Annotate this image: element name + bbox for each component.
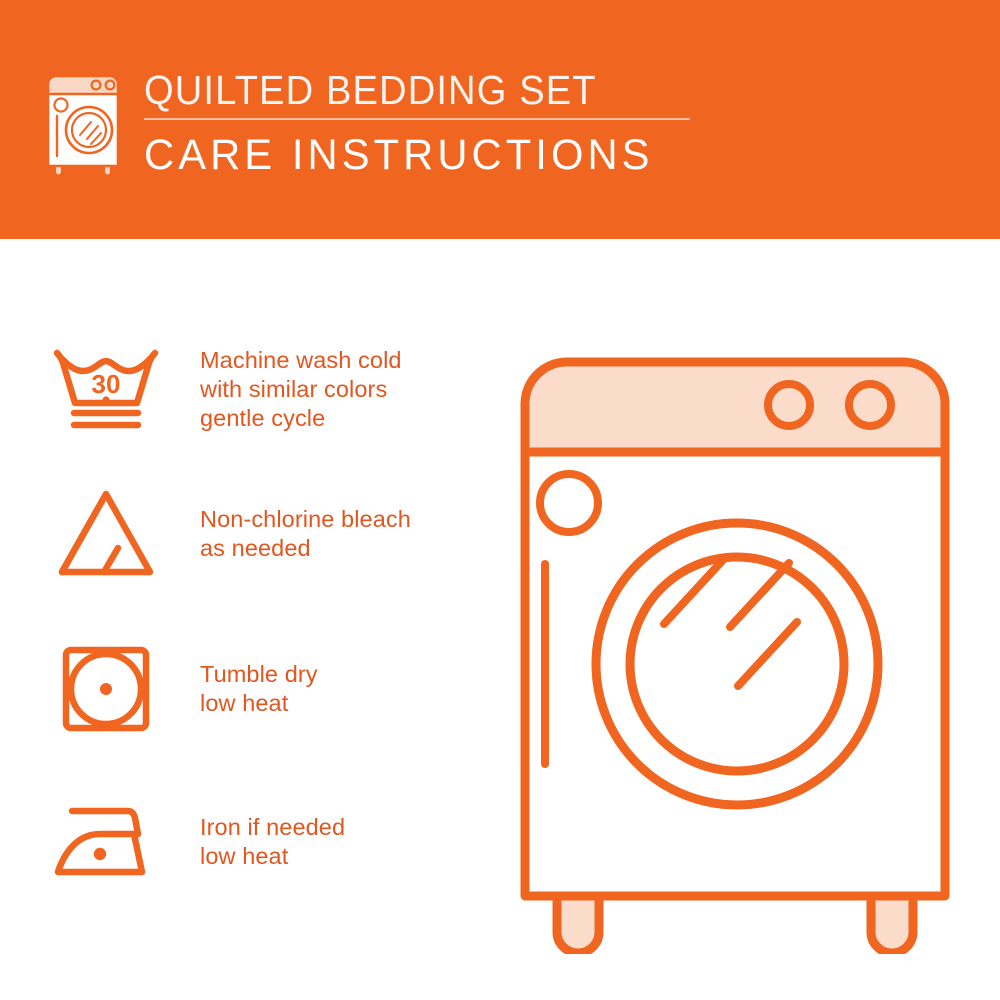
- care-item-bleach: Non-chlorine bleach as needed: [44, 484, 474, 584]
- leg-left: [557, 896, 599, 953]
- wash-temperature-label: 30: [92, 369, 121, 399]
- page-title: QUILTED BEDDING SET: [144, 66, 665, 114]
- washing-machine-icon: [44, 72, 130, 176]
- tumble-dry-low-heat-icon: [44, 641, 168, 737]
- page-header: QUILTED BEDDING SET CARE INSTRUCTIONS: [0, 0, 1000, 239]
- content-area: 30 Machine wash cold with similar colors…: [0, 239, 1000, 1000]
- leg-right: [871, 896, 913, 953]
- iron-low-heat-icon: [44, 794, 168, 890]
- non-chlorine-bleach-triangle-icon: [44, 486, 168, 582]
- care-text-line: gentle cycle: [200, 404, 402, 433]
- washing-machine-illustration: [495, 334, 975, 954]
- care-instruction-list: 30 Machine wash cold with similar colors…: [0, 239, 480, 1000]
- care-item-text: Non-chlorine bleach as needed: [200, 505, 411, 563]
- care-text-line: as needed: [200, 534, 411, 563]
- page-subtitle: CARE INSTRUCTIONS: [144, 130, 687, 180]
- care-item-tumble-dry: Tumble dry low heat: [44, 636, 474, 742]
- header-divider: [144, 118, 690, 120]
- care-text-line: with similar colors: [200, 375, 402, 404]
- care-item-text: Machine wash cold with similar colors ge…: [200, 346, 402, 433]
- care-item-machine-wash: 30 Machine wash cold with similar colors…: [44, 337, 474, 441]
- care-text-line: low heat: [200, 689, 318, 718]
- header-text-block: QUILTED BEDDING SET CARE INSTRUCTIONS: [144, 66, 704, 180]
- care-item-text: Iron if needed low heat: [200, 813, 345, 871]
- care-text-line: Iron if needed: [200, 813, 345, 842]
- care-text-line: Machine wash cold: [200, 346, 402, 375]
- care-item-text: Tumble dry low heat: [200, 660, 318, 718]
- care-item-iron: Iron if needed low heat: [44, 794, 474, 890]
- care-text-line: Non-chlorine bleach: [200, 505, 411, 534]
- care-text-line: Tumble dry: [200, 660, 318, 689]
- care-text-line: low heat: [200, 842, 345, 871]
- control-panel: [525, 362, 945, 452]
- machine-wash-30-gentle-icon: 30: [44, 341, 168, 437]
